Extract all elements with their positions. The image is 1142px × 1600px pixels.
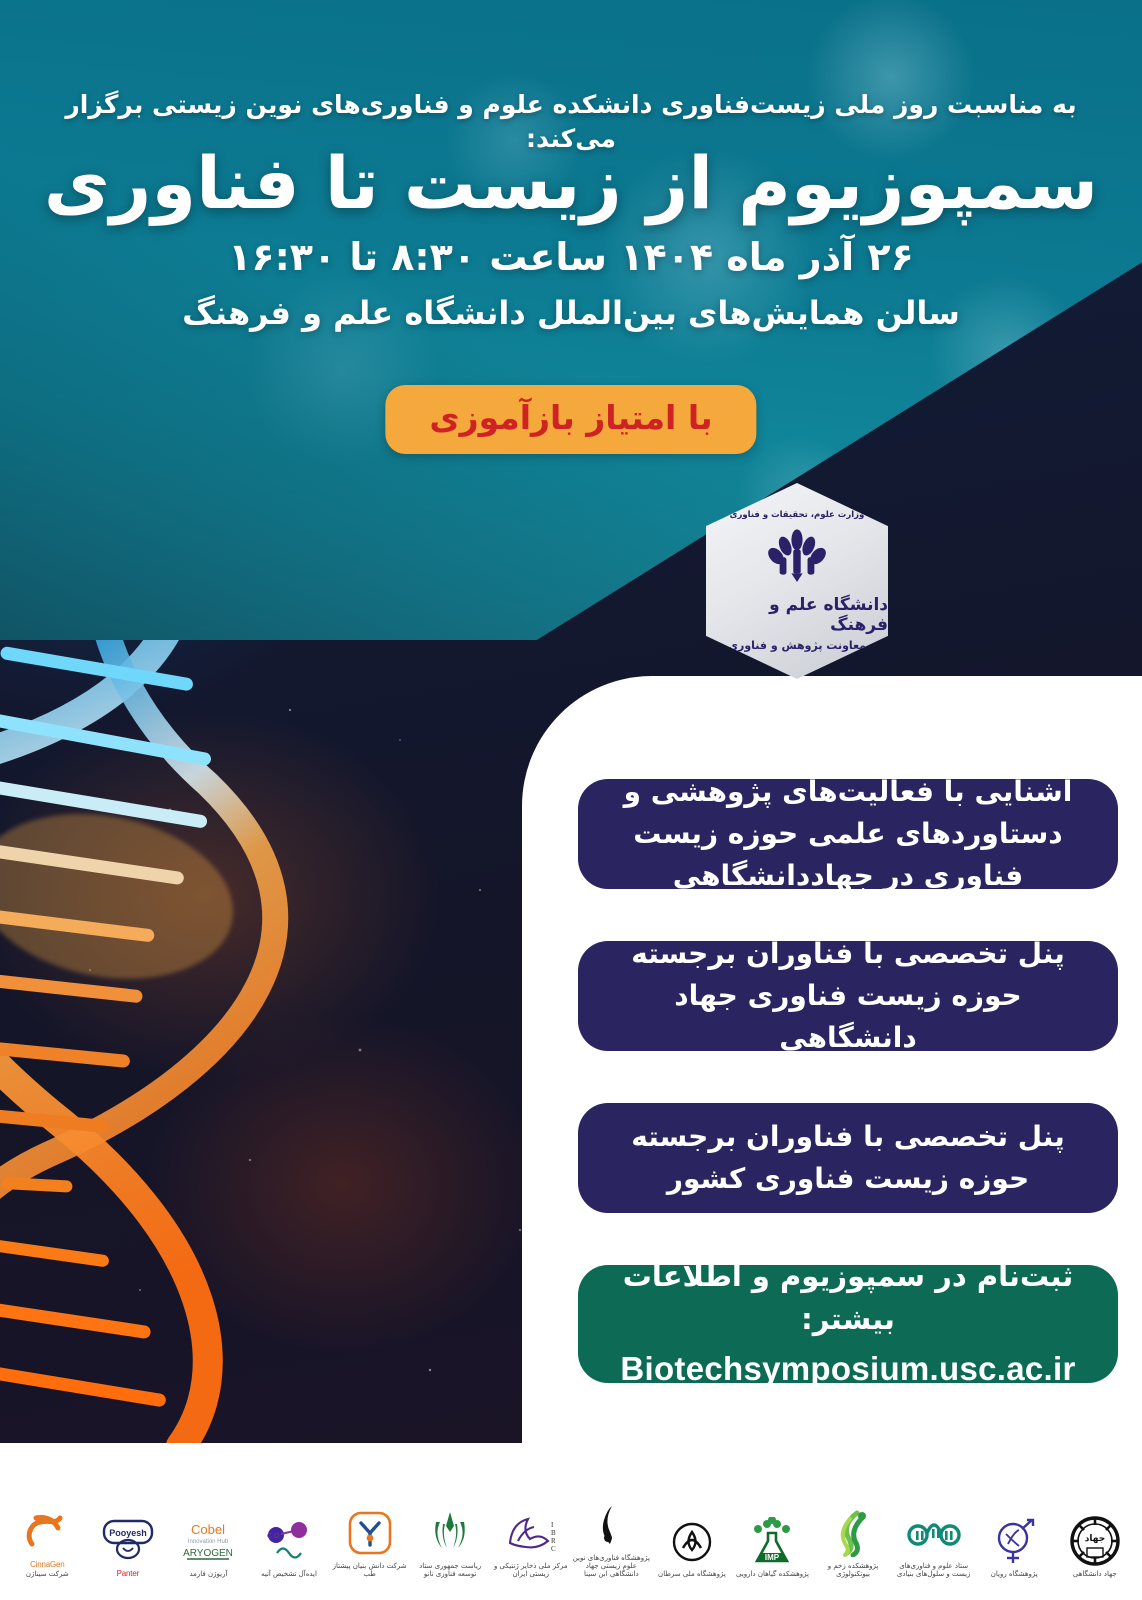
royan-logo-icon: [991, 1513, 1037, 1569]
imp-logo-icon: IMP: [748, 1513, 796, 1569]
sponsor-name-fa: پژوهشگاه ملی سرطان: [658, 1571, 726, 1579]
nano-iran-logo-icon: [428, 1505, 472, 1561]
registration-box[interactable]: ثبت‌نام در سمپوزیوم و اطلاعات بیشتر: Bio…: [578, 1265, 1118, 1383]
svg-text:جهاد: جهاد: [1085, 1534, 1105, 1544]
topic-box-1: آشنایی با فعالیت‌های پژوهشی و دستاوردهای…: [578, 779, 1118, 889]
svg-text:Pooyesh: Pooyesh: [109, 1528, 147, 1538]
svg-text:Innovation Hub: Innovation Hub: [188, 1539, 229, 1545]
logo-department-name: معاونت پژوهش و فناوری: [728, 639, 866, 652]
topic-box-2: پنل تخصصی با فناوران برجسته حوزه زیست فن…: [578, 941, 1118, 1051]
sponsor-jahad-daneshgahi: جهاد جهاد دانشگاهی: [1056, 1461, 1135, 1579]
event-datetime: ۲۶ آذر ماه ۱۴۰۴ ساعت ۸:۳۰ تا ۱۶:۳۰: [0, 232, 1142, 283]
sponsor-nano-iran: ریاست جمهوری ستاد توسعه فناوری نانو: [411, 1461, 490, 1579]
svg-text:C O: C O: [267, 1533, 280, 1540]
sponsor-name-fa: شرکت سیناژن: [26, 1571, 69, 1579]
sponsor-cancer-institute: پژوهشگاه ملی سرطان: [653, 1461, 732, 1579]
sponsor-pishtazteb: شرکت دانش بنیان پیشتاز طب: [330, 1461, 409, 1579]
sponsor-stemcell-hq: ستاد علوم و فناوری‌های زیست و سلول‌های ب…: [894, 1461, 973, 1579]
wound-biotech-logo-icon: [831, 1505, 875, 1561]
ibrc-logo-icon: I B R C: [502, 1505, 560, 1561]
sponsor-logo-strip: CinnaGen شرکت سیناژن Pooyesh Panter Cobe…: [0, 1443, 1142, 1600]
sponsor-name-fa: ریاست جمهوری ستاد توسعه فناوری نانو: [411, 1563, 490, 1578]
sponsor-name-fa: ستاد علوم و فناوری‌های زیست و سلول‌های ب…: [894, 1563, 973, 1578]
pishtazteb-logo-icon: [347, 1505, 393, 1561]
connect-logo-icon: C O: [259, 1513, 319, 1569]
svg-text:C: C: [551, 1545, 556, 1553]
sponsor-name-fa: پژوهشگاه رویان: [991, 1571, 1038, 1579]
sponsor-ibnesina: پژوهشگاه فناوری‌های نوین علوم زیستی جهاد…: [572, 1461, 651, 1579]
sponsor-name-fa: آریوژن فارمد: [189, 1571, 227, 1579]
cinnagen-logo-icon: [24, 1502, 70, 1558]
svg-text:ARYOGEN: ARYOGEN: [184, 1548, 234, 1559]
tulip-emblem-icon: [766, 525, 828, 587]
sponsor-panter: Pooyesh Panter: [89, 1461, 168, 1579]
retraining-credit-badge: با امتیاز بازآموزی: [385, 385, 756, 454]
sponsor-cobel-aryogen: Cobel Innovation Hub ARYOGEN آریوژن فارم…: [169, 1461, 248, 1579]
logo-university-name: دانشگاه علم و فرهنگ: [706, 595, 888, 635]
svg-text:Cobel: Cobel: [191, 1522, 225, 1537]
sponsor-connect: C O ایده‌آل تشخیص آتیه: [250, 1461, 329, 1579]
sponsor-name-fa: جهاد دانشگاهی: [1073, 1571, 1117, 1579]
event-poster: به مناسبت روز ملی زیست‌فناوری دانشکده عل…: [0, 0, 1142, 1600]
cancer-institute-logo-icon: [669, 1513, 715, 1569]
svg-text:IMP: IMP: [765, 1553, 780, 1562]
svg-text:I: I: [551, 1521, 554, 1529]
sponsor-wound-biotech: پژوهشکده زخم و بیوتکنولوژی: [814, 1461, 893, 1579]
sponsor-imp: IMP پژوهشکده گیاهان دارویی: [733, 1461, 812, 1579]
cobel-aryogen-logo-icon: Cobel Innovation Hub ARYOGEN: [177, 1513, 239, 1569]
sponsor-name-fa: ایده‌آل تشخیص آتیه: [261, 1571, 317, 1579]
sponsor-name: Panter: [117, 1569, 139, 1578]
page-title: سمپوزیوم از زیست تا فناوری: [0, 140, 1142, 226]
ibnesina-logo-icon: [592, 1497, 630, 1553]
sponsor-ibrc: I B R C مرکز ملی ذخایر ژنتیکی و زیستی ای…: [491, 1461, 570, 1579]
sponsor-name: CinnaGen: [30, 1560, 64, 1569]
svg-text:B: B: [551, 1529, 556, 1537]
registration-url[interactable]: Biotechsymposium.usc.ac.ir: [620, 1344, 1075, 1394]
jahad-daneshgahi-logo-icon: جهاد: [1070, 1513, 1120, 1569]
sponsor-cinnagen: CinnaGen شرکت سیناژن: [8, 1461, 87, 1579]
sponsor-royan: پژوهشگاه رویان: [975, 1461, 1054, 1579]
sponsor-name-fa: پژوهشکده زخم و بیوتکنولوژی: [814, 1563, 893, 1578]
sponsor-name-fa: پژوهشکده گیاهان دارویی: [736, 1571, 809, 1579]
topic-box-3: پنل تخصصی با فناوران برجسته حوزه زیست فن…: [578, 1103, 1118, 1213]
stemcell-hq-logo-icon: [905, 1505, 963, 1561]
panter-logo-icon: Pooyesh: [101, 1511, 155, 1567]
svg-text:R: R: [551, 1537, 556, 1545]
registration-label: ثبت‌نام در سمپوزیوم و اطلاعات بیشتر:: [604, 1255, 1092, 1342]
event-venue: سالن همایش‌های بین‌الملل دانشگاه علم و ف…: [0, 292, 1142, 335]
sponsor-name-fa: شرکت دانش بنیان پیشتاز طب: [330, 1563, 409, 1578]
logo-ministry-label: وزارت علوم، تحقیقات و فناوری: [730, 510, 865, 520]
sponsor-name-fa: پژوهشگاه فناوری‌های نوین علوم زیستی جهاد…: [572, 1555, 651, 1578]
sponsor-name-fa: مرکز ملی ذخایر ژنتیکی و زیستی ایران: [491, 1563, 570, 1578]
